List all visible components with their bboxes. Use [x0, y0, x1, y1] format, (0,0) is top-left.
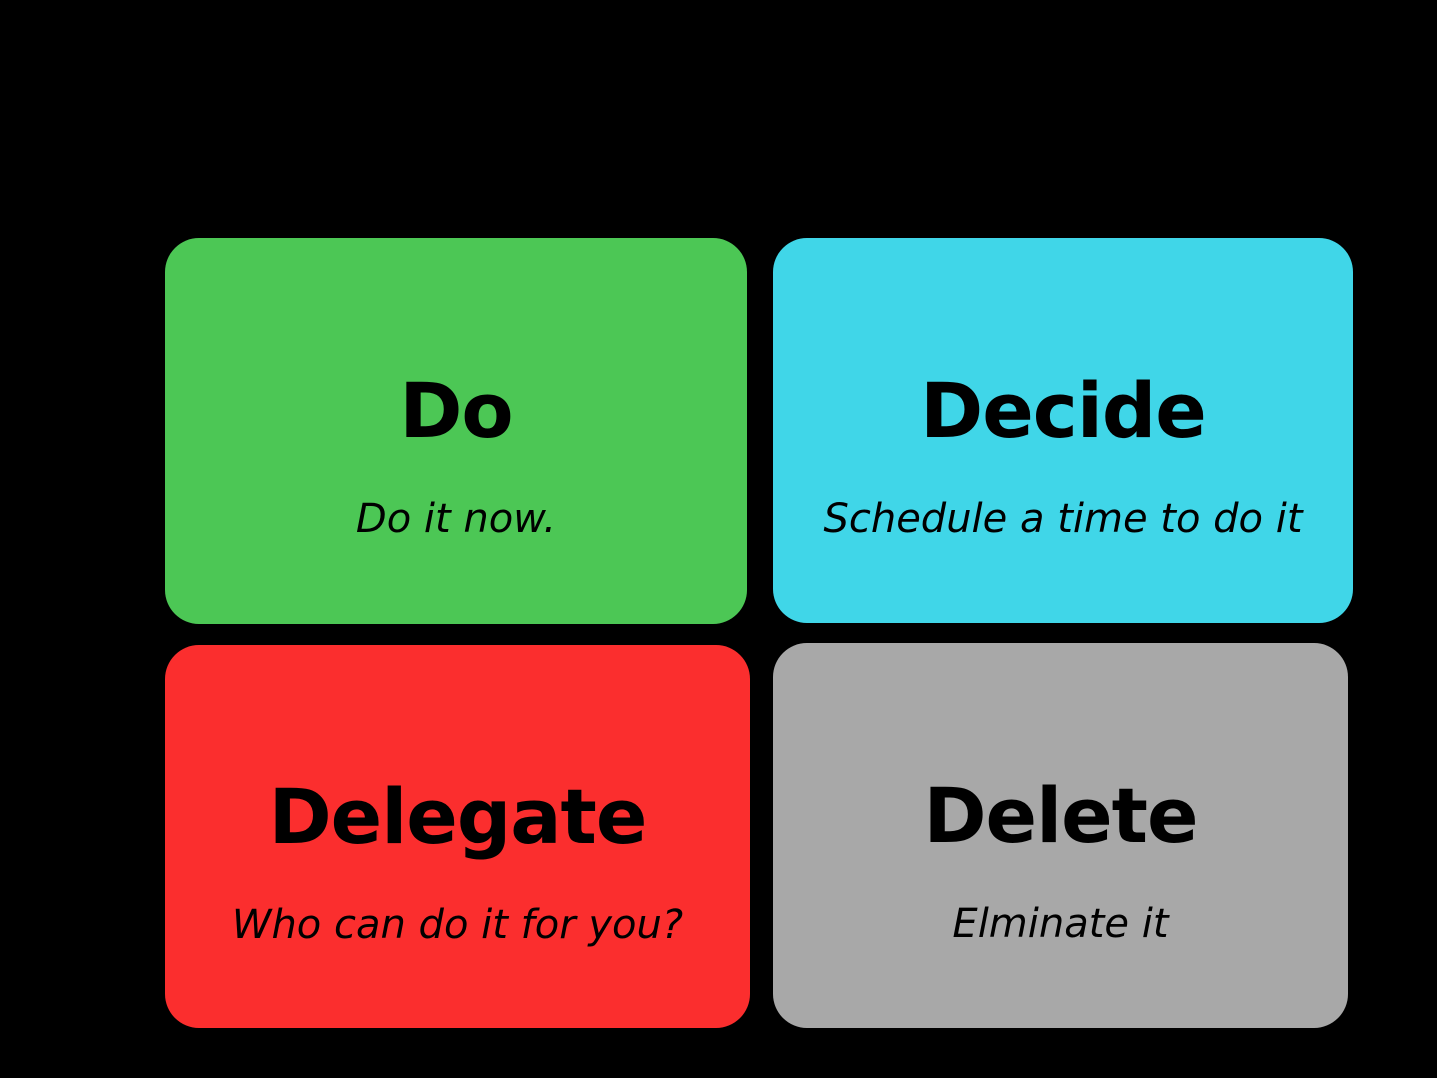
quadrant-do[interactable]: Do Do it now. — [165, 238, 747, 624]
quadrant-delegate[interactable]: Delegate Who can do it for you? — [165, 645, 750, 1028]
eisenhower-matrix: Do Do it now. Decide Schedule a time to … — [0, 0, 1437, 1078]
quadrant-do-subtitle: Do it now. — [356, 497, 556, 541]
quadrant-delete-subtitle: Elminate it — [952, 902, 1168, 946]
quadrant-delegate-subtitle: Who can do it for you? — [232, 903, 683, 947]
quadrant-decide-subtitle: Schedule a time to do it — [823, 497, 1302, 541]
quadrant-delegate-title: Delegate — [269, 779, 647, 855]
quadrant-decide-title: Decide — [920, 373, 1206, 449]
quadrant-decide[interactable]: Decide Schedule a time to do it — [773, 238, 1353, 623]
quadrant-delete-title: Delete — [923, 778, 1197, 854]
quadrant-delete[interactable]: Delete Elminate it — [773, 643, 1348, 1028]
quadrant-do-title: Do — [399, 373, 512, 449]
